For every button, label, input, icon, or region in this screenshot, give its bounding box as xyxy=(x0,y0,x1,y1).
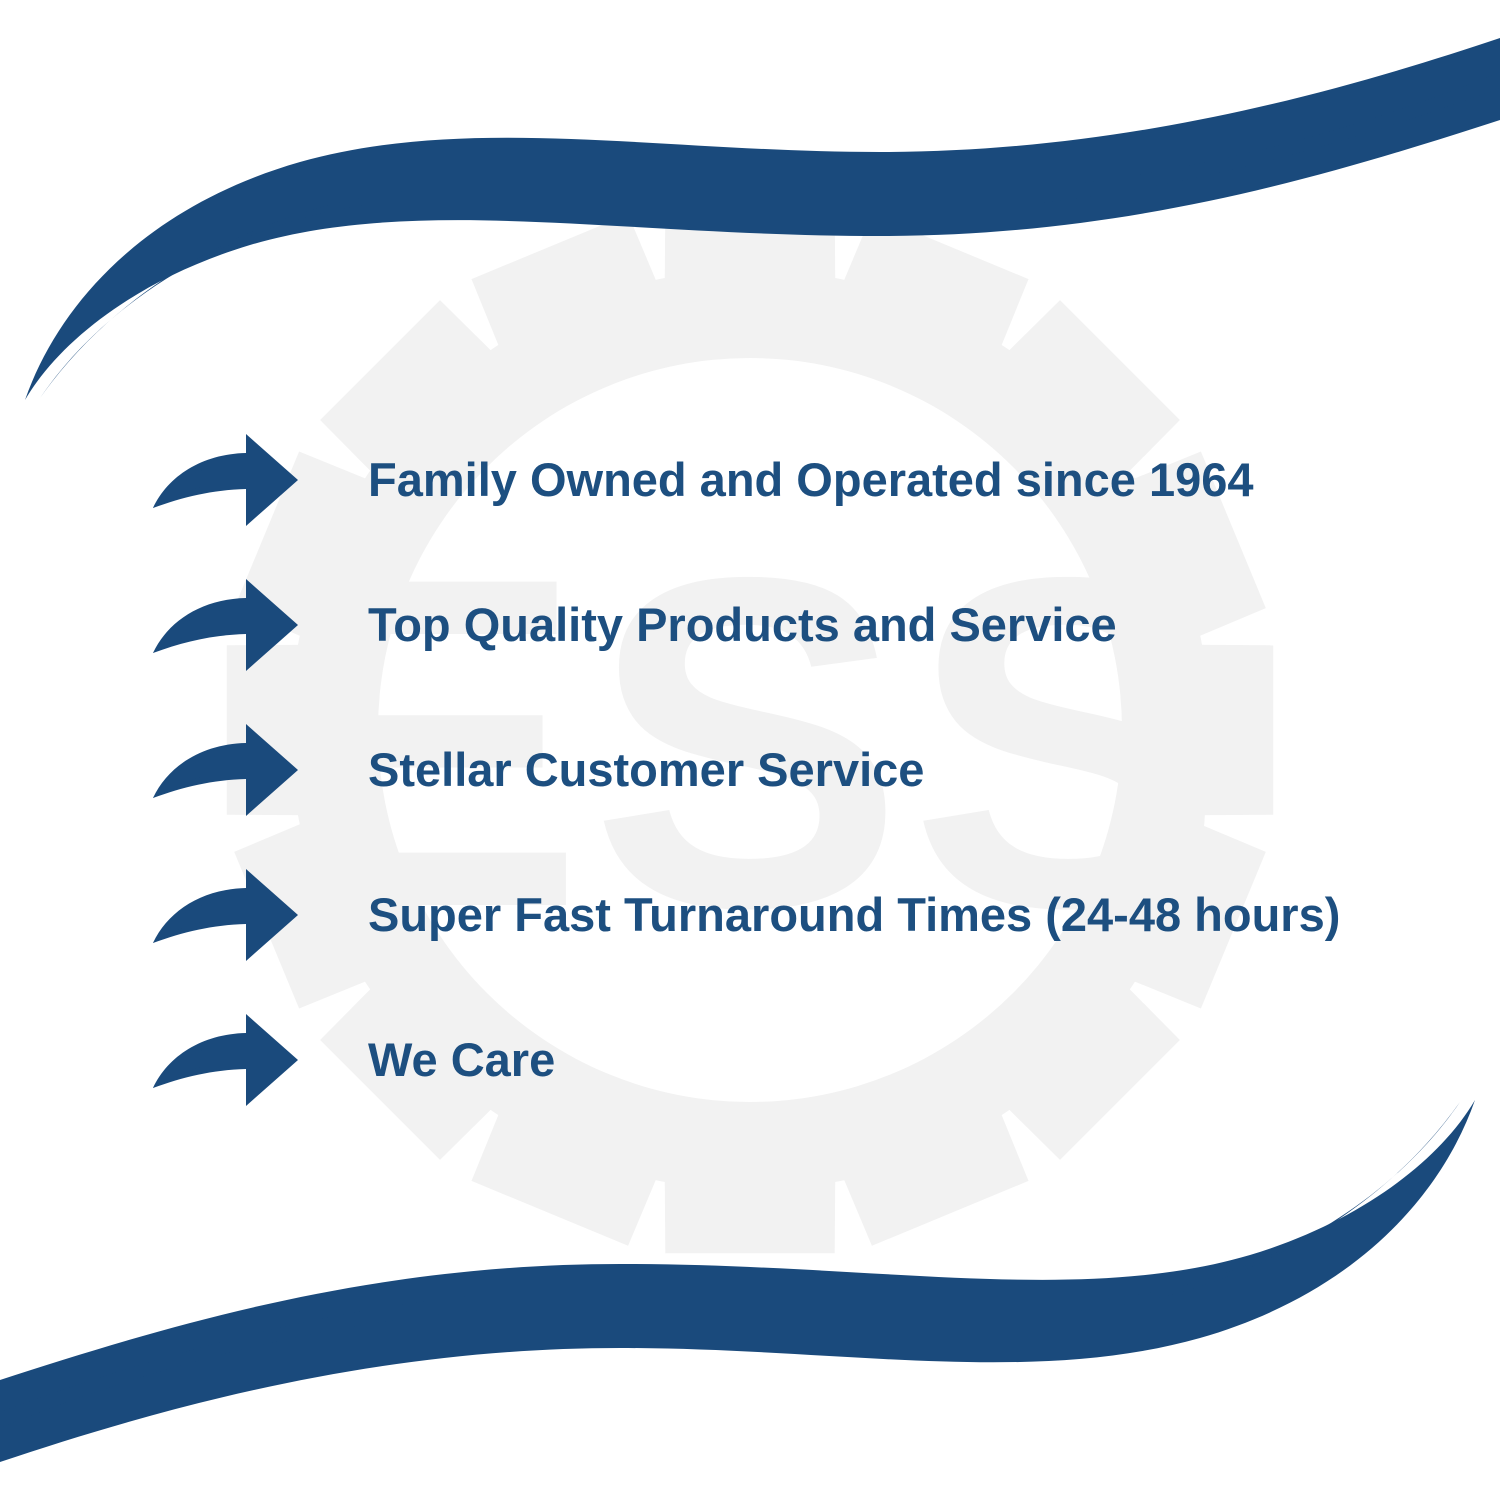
list-item: Top Quality Products and Service xyxy=(150,577,1470,673)
list-item-label: Family Owned and Operated since 1964 xyxy=(368,454,1470,506)
curved-arrow-right-icon xyxy=(150,432,302,528)
curved-arrow-right-icon xyxy=(150,867,302,963)
curved-arrow-right-icon xyxy=(150,1012,302,1108)
list-item: We Care xyxy=(150,1012,1470,1108)
list-item-label: Super Fast Turnaround Times (24-48 hours… xyxy=(368,889,1470,941)
curved-arrow-right-icon xyxy=(150,722,302,818)
benefits-list: Family Owned and Operated since 1964 Top… xyxy=(0,0,1500,1500)
list-item-label: We Care xyxy=(368,1034,1470,1086)
curved-arrow-right-icon xyxy=(150,577,302,673)
promo-graphic: ESS WHY SHOP WITH US Family Owned and Op… xyxy=(0,0,1500,1500)
list-item-label: Stellar Customer Service xyxy=(368,744,1470,796)
list-item: Super Fast Turnaround Times (24-48 hours… xyxy=(150,867,1470,963)
list-item: Stellar Customer Service xyxy=(150,722,1470,818)
list-item-label: Top Quality Products and Service xyxy=(368,599,1470,651)
page-title: WHY SHOP WITH US xyxy=(0,14,1500,109)
list-item: Family Owned and Operated since 1964 xyxy=(150,432,1470,528)
